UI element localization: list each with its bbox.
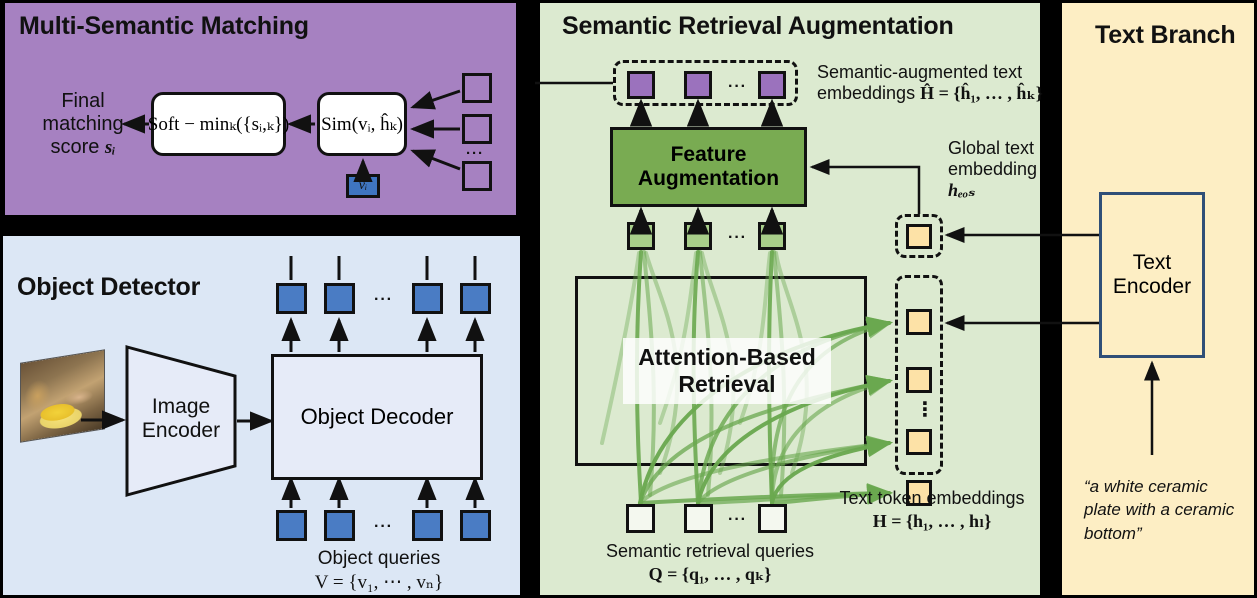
- panel-semantic-retrieval-augmentation: Semantic Retrieval Augmentation ··· Sema…: [540, 3, 1040, 595]
- semantic-retrieval-query-3[interactable]: [758, 504, 787, 533]
- detector-output-token-2[interactable]: [324, 283, 355, 314]
- text-encoder-line2: Encoder: [1113, 275, 1191, 299]
- similarity-box[interactable]: Sim(vᵢ, ĥₖ): [317, 92, 407, 156]
- augmented-text-embedding-1[interactable]: [627, 71, 655, 99]
- semantic-retrieval-query-2[interactable]: [684, 504, 713, 533]
- figure-canvas: Multi-Semantic Matching Final matching s…: [0, 0, 1257, 598]
- panel-title-semantic-retrieval-augmentation: Semantic Retrieval Augmentation: [562, 12, 954, 41]
- object-query-token-4[interactable]: [460, 510, 491, 541]
- final-label-line1: Final: [23, 90, 143, 113]
- object-decoder-box[interactable]: Object Decoder: [271, 354, 483, 480]
- object-queries-caption: Object queries V = {v₁, ⋯ , vₙ}: [271, 548, 487, 594]
- retrieval-queries-math: Q = {q₁, … , qₖ}: [580, 564, 840, 585]
- global-text-line2: embedding: [948, 159, 1058, 180]
- semantic-retrieval-query-ellipsis: ···: [728, 511, 747, 529]
- augmented-caption-line2: embeddings Ĥ = {ĥ₁, … , ĥₖ}: [817, 83, 1042, 104]
- object-query-token-2[interactable]: [324, 510, 355, 541]
- global-text-line1: Global text: [948, 138, 1058, 159]
- panel-text-branch: Text Branch Text Encoder “a white cerami…: [1062, 3, 1254, 595]
- object-queries-math: V = {v₁, ⋯ , vₙ}: [271, 572, 487, 594]
- global-text-embedding-caption: Global text embedding hₑₒₛ: [948, 138, 1058, 201]
- object-queries-label: Object queries: [271, 548, 487, 570]
- semantic-retrieval-queries-caption: Semantic retrieval queries Q = {q₁, … , …: [580, 541, 840, 585]
- caption-line3: bottom”: [1084, 522, 1244, 545]
- attention-retrieval-line2: Retrieval: [627, 371, 827, 398]
- text-token-math: H = {h₁, … , hₗ}: [826, 511, 1038, 532]
- feature-augmentation-line1: Feature: [671, 143, 747, 167]
- image-encoder-line1: Image: [131, 395, 231, 419]
- feature-augmentation-box[interactable]: Feature Augmentation: [610, 127, 807, 207]
- detector-output-token-4[interactable]: [460, 283, 491, 314]
- final-score-symbol: sᵢ: [105, 137, 116, 158]
- object-decoder-label: Object Decoder: [301, 404, 454, 430]
- retrieved-feature-token-2[interactable]: [684, 222, 712, 250]
- augmented-text-embedding-2[interactable]: [684, 71, 712, 99]
- augmented-embedding-square-2[interactable]: [462, 114, 492, 144]
- object-query-ellipsis: ···: [374, 518, 393, 536]
- panel-multi-semantic-matching: Multi-Semantic Matching Final matching s…: [5, 3, 516, 215]
- input-image-thumbnail: [21, 350, 104, 441]
- similarity-formula: Sim(vᵢ, ĥₖ): [321, 113, 403, 136]
- augmented-text-embedding-3[interactable]: [758, 71, 786, 99]
- augmented-embedding-square-1[interactable]: [462, 73, 492, 103]
- feature-augmentation-line2: Augmentation: [638, 167, 779, 191]
- text-token-embedding-1[interactable]: [906, 309, 932, 335]
- augmented-caption-math: Ĥ = {ĥ₁, … , ĥₖ}: [920, 83, 1043, 103]
- semantic-retrieval-query-1[interactable]: [626, 504, 655, 533]
- augmented-embeddings-caption: Semantic-augmented text embeddings Ĥ = {…: [817, 62, 1042, 104]
- augmented-embedding-square-3[interactable]: [462, 161, 492, 191]
- retrieved-feature-token-3[interactable]: [758, 222, 786, 250]
- retrieved-tokens-ellipsis: ···: [728, 229, 747, 247]
- object-query-token-3[interactable]: [412, 510, 443, 541]
- text-token-vertical-ellipsis: ⋮: [915, 397, 936, 422]
- attention-retrieval-label: Attention-Based Retrieval: [623, 338, 831, 404]
- panel-object-detector: Object Detector: [3, 236, 520, 595]
- final-label-line2: matching: [23, 113, 143, 136]
- visual-query-token-label: vᵢ: [359, 178, 367, 194]
- soft-min-box[interactable]: Soft − minₖ({sᵢ,ₖ}): [151, 92, 286, 156]
- image-encoder-line2: Encoder: [131, 419, 231, 443]
- visual-query-token[interactable]: vᵢ: [346, 174, 380, 198]
- detector-output-ellipsis: ···: [374, 291, 393, 309]
- detector-output-token-1[interactable]: [276, 283, 307, 314]
- augmented-embeddings-ellipsis: ···: [728, 78, 747, 96]
- caption-line2: plate with a ceramic: [1084, 498, 1244, 521]
- panel-title-multi-semantic-matching: Multi-Semantic Matching: [19, 12, 309, 41]
- final-label-line3: score sᵢ: [23, 136, 143, 159]
- image-encoder-label: Image Encoder: [131, 395, 231, 444]
- panel-title-text-branch: Text Branch: [1095, 21, 1235, 50]
- final-matching-score-label: Final matching score sᵢ: [23, 90, 143, 160]
- global-text-math: hₑₒₛ: [948, 180, 1058, 201]
- text-token-embedding-2[interactable]: [906, 367, 932, 393]
- text-encoder-box[interactable]: Text Encoder: [1099, 192, 1205, 358]
- augmented-caption-line1: Semantic-augmented text: [817, 62, 1042, 83]
- attention-retrieval-line1: Attention-Based: [627, 344, 827, 371]
- text-encoder-line1: Text: [1133, 251, 1172, 275]
- object-query-token-1[interactable]: [276, 510, 307, 541]
- retrieval-queries-label: Semantic retrieval queries: [580, 541, 840, 562]
- detector-output-token-3[interactable]: [412, 283, 443, 314]
- msm-ellipsis: ···: [466, 145, 484, 162]
- global-text-embedding-token[interactable]: [906, 224, 932, 249]
- text-token-embedding-3[interactable]: [906, 429, 932, 455]
- retrieved-feature-token-1[interactable]: [627, 222, 655, 250]
- caption-line1: “a white ceramic: [1084, 475, 1244, 498]
- panel-title-object-detector: Object Detector: [17, 273, 200, 302]
- text-token-label: Text token embeddings: [826, 488, 1038, 509]
- soft-min-formula: Soft − minₖ({sᵢ,ₖ}): [148, 113, 289, 136]
- input-caption-text: “a white ceramic plate with a ceramic bo…: [1084, 475, 1244, 545]
- text-token-embeddings-caption: Text token embeddings H = {h₁, … , hₗ}: [826, 488, 1038, 532]
